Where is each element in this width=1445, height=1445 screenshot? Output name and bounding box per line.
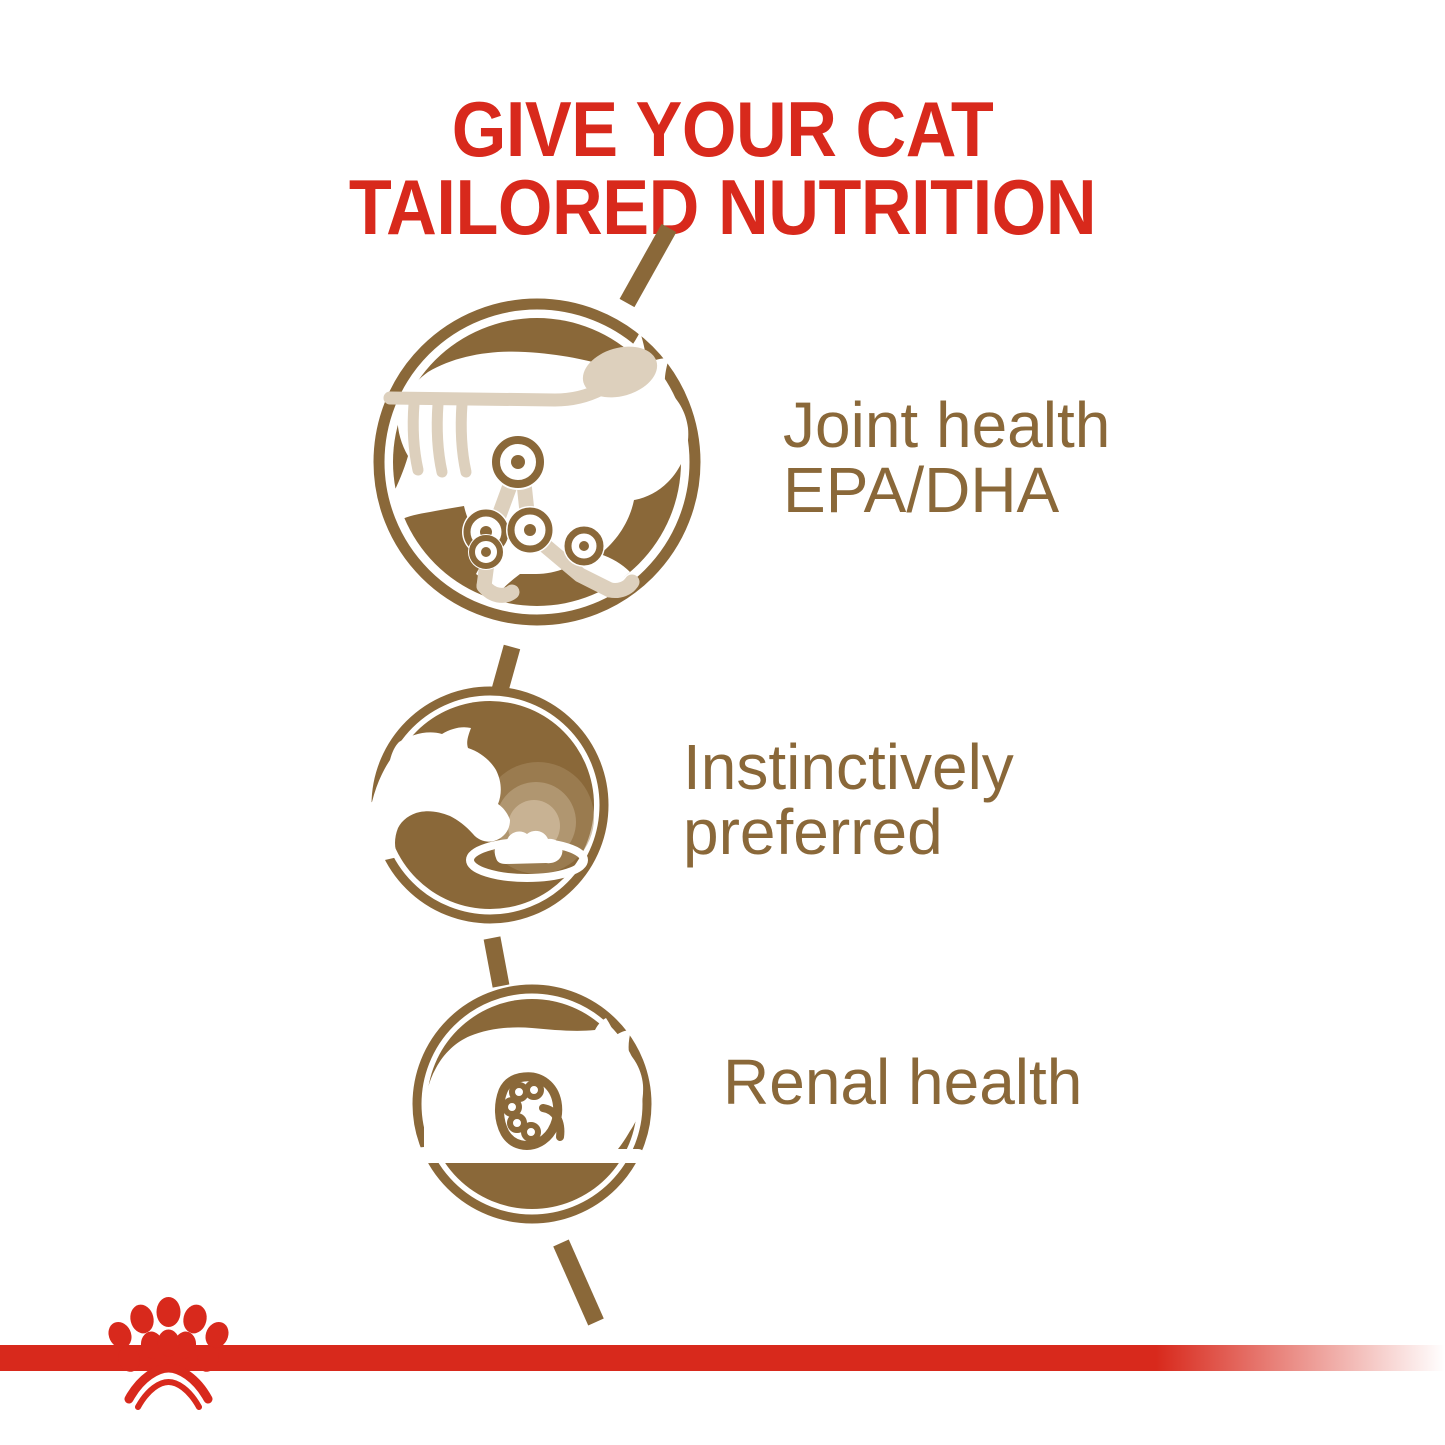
poster-root: GIVE YOUR CAT TAILORED NUTRITION [0, 0, 1445, 1445]
benefit-icon-3-renal-health[interactable] [386, 989, 647, 1219]
footer [0, 1295, 1445, 1445]
cat-kidney-icon [386, 1018, 645, 1174]
benefits-diagram [0, 0, 1445, 1445]
royal-canin-crown-logo [96, 1297, 241, 1417]
benefit-label-2: Instinctively preferred [683, 735, 1014, 866]
benefit-label-3: Renal health [723, 1050, 1082, 1115]
benefit-icon-1-joint-health[interactable] [379, 304, 695, 620]
benefit-label-1: Joint health EPA/DHA [783, 393, 1110, 524]
benefit-icon-2-instinctively-preferred[interactable] [338, 691, 604, 919]
